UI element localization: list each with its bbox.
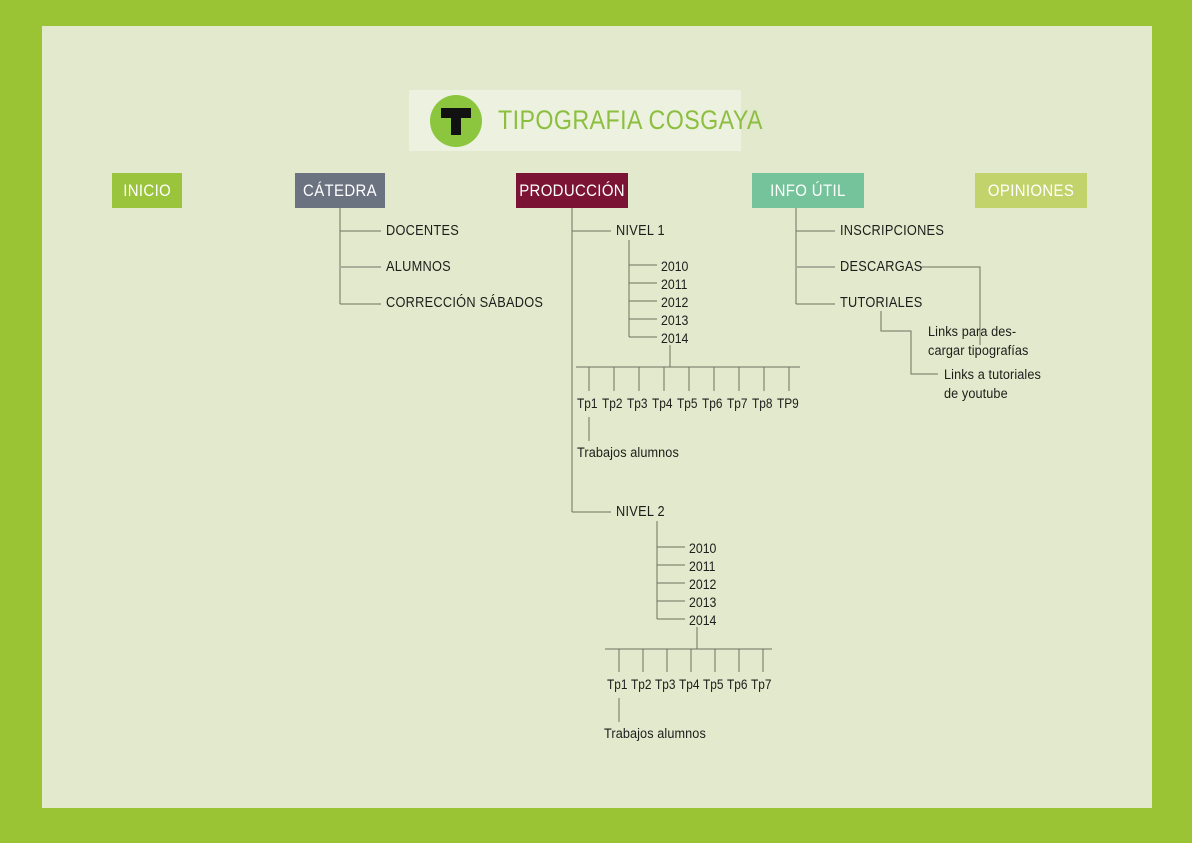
nivel1-tp-6[interactable]: Tp6 [702,396,725,411]
nivel2-year-2010[interactable]: 2010 [689,540,720,556]
nivel2-tp-7[interactable]: Tp7 [751,677,774,692]
nivel2-tp-5[interactable]: Tp5 [703,677,726,692]
leaf-links-tutoriales-youtube[interactable]: Links a tutoriales de youtube [944,365,1047,403]
nav-item-produccion[interactable]: PRODUCCIÓN [516,173,628,208]
nivel1-tp-3[interactable]: Tp3 [627,396,650,411]
nivel1-tp-9[interactable]: TP9 [777,396,802,411]
nav-item-catedra[interactable]: CÁTEDRA [295,173,385,208]
nivel1-tp-2[interactable]: Tp2 [602,396,625,411]
catedra-item-docentes[interactable]: DOCENTES [386,223,469,239]
nivel2-year-2011[interactable]: 2011 [689,558,719,574]
nivel2-tp-3[interactable]: Tp3 [655,677,678,692]
info-util-item-inscripciones[interactable]: INSCRIPCIONES [840,223,958,239]
logo-icon [430,95,482,147]
sitemap-diagram: TIPOGRAFIA COSGAYA INICIO CÁTEDRA PRODUC… [0,0,1192,843]
nivel1-tp-7[interactable]: Tp7 [727,396,750,411]
produccion-nivel2-label[interactable]: NIVEL 2 [616,504,672,520]
nav-item-info-util[interactable]: INFO ÚTIL [752,173,864,208]
nivel1-year-2011[interactable]: 2011 [661,276,691,292]
nivel1-tp-1[interactable]: Tp1 [577,396,600,411]
nivel1-tp-8[interactable]: Tp8 [752,396,775,411]
site-title: TIPOGRAFIA COSGAYA [498,105,763,136]
nivel1-year-2014[interactable]: 2014 [661,330,692,346]
nivel2-tp-2[interactable]: Tp2 [631,677,654,692]
nivel1-trabajos-alumnos[interactable]: Trabajos alumnos [577,445,685,460]
nivel1-year-2012[interactable]: 2012 [661,294,692,310]
catedra-item-correccion-sabados[interactable]: CORRECCIÓN SÁBADOS [386,295,565,311]
nivel2-year-2014[interactable]: 2014 [689,612,720,628]
nivel2-year-2013[interactable]: 2013 [689,594,720,610]
nav-item-inicio[interactable]: INICIO [112,173,182,208]
nivel1-tp-5[interactable]: Tp5 [677,396,700,411]
nivel1-year-2010[interactable]: 2010 [661,258,692,274]
site-header: TIPOGRAFIA COSGAYA [409,90,741,151]
leaf-links-descargar-tipografias[interactable]: Links para des- cargar tipografías [928,322,1035,360]
nivel2-year-2012[interactable]: 2012 [689,576,720,592]
produccion-nivel1-label[interactable]: NIVEL 1 [616,223,672,239]
nav-item-opiniones[interactable]: OPINIONES [975,173,1087,208]
logo-t-stem [451,108,461,135]
info-util-item-tutoriales[interactable]: TUTORIALES [840,295,934,311]
nivel2-trabajos-alumnos[interactable]: Trabajos alumnos [604,726,712,741]
nivel1-tp-4[interactable]: Tp4 [652,396,675,411]
nivel2-tp-1[interactable]: Tp1 [607,677,630,692]
info-util-item-descargas[interactable]: DESCARGAS [840,259,934,275]
nivel2-tp-4[interactable]: Tp4 [679,677,702,692]
nivel2-tp-6[interactable]: Tp6 [727,677,750,692]
catedra-item-alumnos[interactable]: ALUMNOS [386,259,460,275]
nivel1-year-2013[interactable]: 2013 [661,312,692,328]
